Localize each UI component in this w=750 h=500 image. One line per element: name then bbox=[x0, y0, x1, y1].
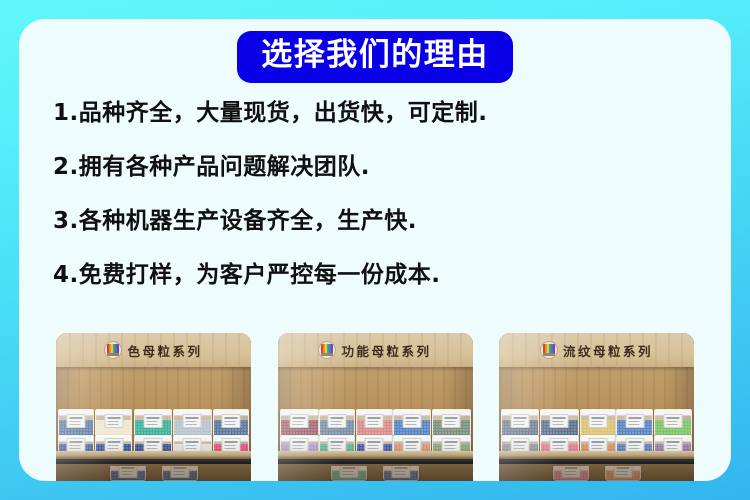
jar-row-lower bbox=[56, 466, 251, 481]
pellet-container bbox=[393, 409, 431, 437]
pellet-container bbox=[605, 466, 641, 481]
pellet-container bbox=[383, 466, 419, 481]
pellet-container bbox=[319, 409, 355, 437]
jar-row-lower bbox=[499, 466, 694, 481]
container-label bbox=[67, 414, 86, 428]
list-item: 2.拥有各种产品问题解决团队. bbox=[53, 156, 701, 179]
pellet-container bbox=[654, 409, 692, 437]
pellet-container bbox=[280, 409, 319, 437]
colorful-bars-logo-icon bbox=[318, 341, 336, 359]
pellet-container bbox=[501, 409, 539, 437]
container-label bbox=[561, 466, 580, 478]
pellet-container bbox=[616, 409, 653, 437]
list-item: 4.免费打样，为客户严控每一份成本. bbox=[53, 264, 701, 287]
pellet-container bbox=[213, 409, 249, 437]
shelf-sign: 色母粒系列 bbox=[56, 333, 251, 367]
shelf-sign-label: 流纹母粒系列 bbox=[563, 341, 653, 360]
shelf-sign: 功能母粒系列 bbox=[278, 333, 473, 367]
jar-row-lower bbox=[278, 466, 473, 481]
content-panel: 选择我们的理由 1.品种齐全，大量现货，出货快，可定制. 2.拥有各种产品问题解… bbox=[19, 19, 731, 481]
container-label bbox=[365, 414, 384, 428]
container-label bbox=[328, 414, 347, 428]
colorful-bars-logo-icon bbox=[104, 341, 122, 359]
jar-row-top bbox=[499, 411, 694, 437]
shelf-board bbox=[56, 451, 251, 459]
container-label bbox=[588, 414, 607, 428]
pellet-container bbox=[331, 466, 367, 481]
product-gallery: 色母粒系列 功能母粒系列 bbox=[56, 333, 694, 481]
container-label bbox=[664, 414, 683, 428]
pellet-container bbox=[173, 409, 212, 437]
container-label bbox=[442, 414, 461, 428]
product-photo: 流纹母粒系列 bbox=[499, 333, 694, 481]
product-photo: 色母粒系列 bbox=[56, 333, 251, 481]
shelf-sign-label: 功能母粒系列 bbox=[341, 341, 431, 360]
container-label bbox=[340, 466, 359, 478]
colorful-bars-logo-icon bbox=[540, 341, 558, 359]
container-label bbox=[104, 414, 123, 428]
poster-root: 选择我们的理由 1.品种齐全，大量现货，出货快，可定制. 2.拥有各种产品问题解… bbox=[0, 0, 750, 500]
title-container: 选择我们的理由 bbox=[19, 31, 731, 83]
shelf-sign-label: 色母粒系列 bbox=[127, 341, 202, 360]
reasons-list: 1.品种齐全，大量现货，出货快，可定制. 2.拥有各种产品问题解决团队. 3.各… bbox=[53, 102, 701, 318]
shelf-sign: 流纹母粒系列 bbox=[499, 333, 694, 367]
container-label bbox=[143, 414, 162, 428]
container-label bbox=[222, 414, 241, 428]
shelf-board bbox=[278, 451, 473, 459]
jar-row-top bbox=[56, 411, 251, 437]
container-label bbox=[183, 414, 202, 428]
container-label bbox=[290, 414, 309, 428]
container-label bbox=[511, 414, 530, 428]
container-label bbox=[403, 414, 422, 428]
pellet-container bbox=[553, 466, 589, 481]
pellet-container bbox=[162, 466, 198, 481]
container-label bbox=[170, 466, 189, 478]
page-title: 选择我们的理由 bbox=[237, 31, 513, 83]
pellet-container bbox=[134, 409, 172, 437]
pellet-container bbox=[580, 409, 616, 437]
list-item: 1.品种齐全，大量现货，出货快，可定制. bbox=[53, 102, 701, 125]
container-label bbox=[392, 466, 411, 478]
shelf-board bbox=[499, 451, 694, 459]
product-photo: 功能母粒系列 bbox=[278, 333, 473, 481]
container-label bbox=[625, 414, 644, 428]
container-label bbox=[613, 466, 632, 478]
pellet-container bbox=[540, 409, 579, 437]
pellet-container bbox=[58, 409, 94, 437]
pellet-container bbox=[110, 466, 146, 481]
jar-row-top bbox=[278, 411, 473, 437]
list-item: 3.各种机器生产设备齐全，生产快. bbox=[53, 210, 701, 233]
pellet-container bbox=[432, 409, 471, 437]
pellet-container bbox=[95, 409, 132, 437]
container-label bbox=[118, 466, 137, 478]
container-label bbox=[550, 414, 569, 428]
pellet-container bbox=[356, 409, 393, 437]
